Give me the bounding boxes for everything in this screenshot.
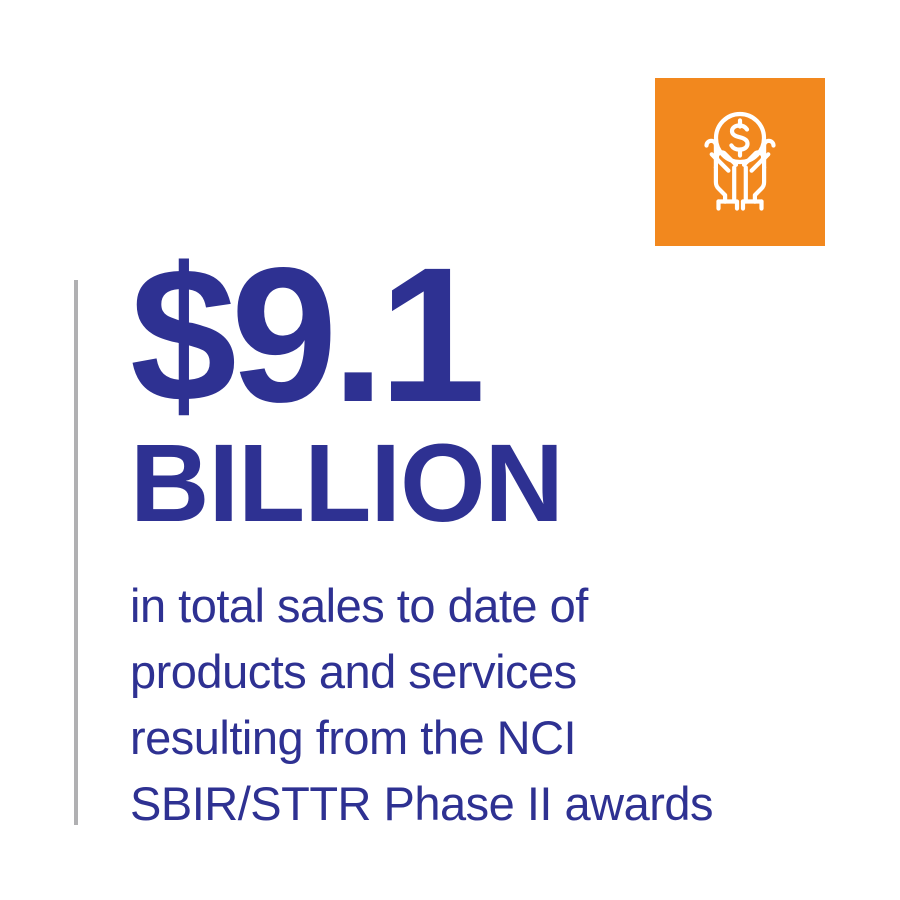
- icon-tile: [655, 78, 825, 246]
- description-line: products and services: [130, 639, 830, 705]
- description-line: SBIR/STTR Phase II awards: [130, 771, 830, 837]
- description-text: in total sales to date of products and s…: [130, 573, 830, 836]
- stat-text-block: $9.1 BILLION in total sales to date of p…: [130, 252, 830, 836]
- stat-unit: BILLION: [130, 429, 830, 539]
- vertical-divider: [74, 280, 78, 825]
- description-line: resulting from the NCI: [130, 705, 830, 771]
- hands-holding-coin-icon: [678, 100, 802, 224]
- infographic-canvas: $9.1 BILLION in total sales to date of p…: [0, 0, 900, 900]
- stat-number: $9.1: [130, 252, 830, 417]
- description-line: in total sales to date of: [130, 573, 830, 639]
